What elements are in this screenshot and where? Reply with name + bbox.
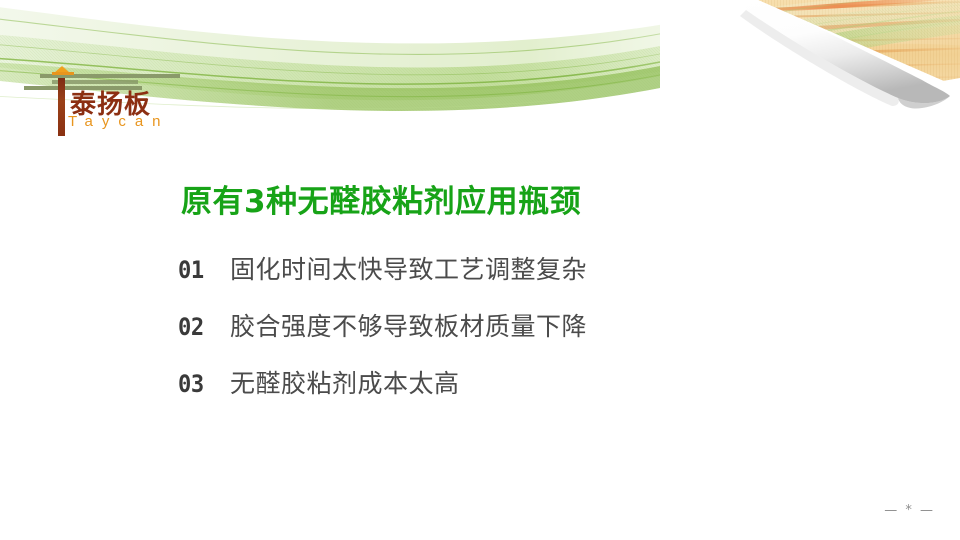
bullet-number: 03 [178,370,226,398]
logo-accent-cap [52,72,74,75]
slide-title: 原有3种无醛胶粘剂应用瓶颈 [181,176,581,221]
list-item: 01 固化时间太快导致工艺调整复杂 [178,250,818,307]
list-item: 03 无醛胶粘剂成本太高 [178,364,818,421]
list-item: 02 胶合强度不够导致板材质量下降 [178,307,818,364]
bullet-text: 胶合强度不够导致板材质量下降 [230,307,587,343]
logo-vertical-bar [58,78,65,136]
bullet-number: 02 [178,313,226,341]
bullet-text: 固化时间太快导致工艺调整复杂 [230,250,587,286]
bullet-number: 01 [178,256,226,284]
logo-name-en: Taycan [68,113,170,130]
bullet-list: 01 固化时间太快导致工艺调整复杂 02 胶合强度不够导致板材质量下降 03 无… [178,250,818,421]
company-logo: 泰扬板 Taycan [24,58,204,138]
bullet-text: 无醛胶粘剂成本太高 [230,364,460,400]
slide-canvas: 泰扬板 Taycan 原有3种无醛胶粘剂应用瓶颈 01 固化时间太快导致工艺调整… [0,0,960,540]
page-curl-corner [660,0,960,110]
slide-number-field: — * — [884,503,935,518]
